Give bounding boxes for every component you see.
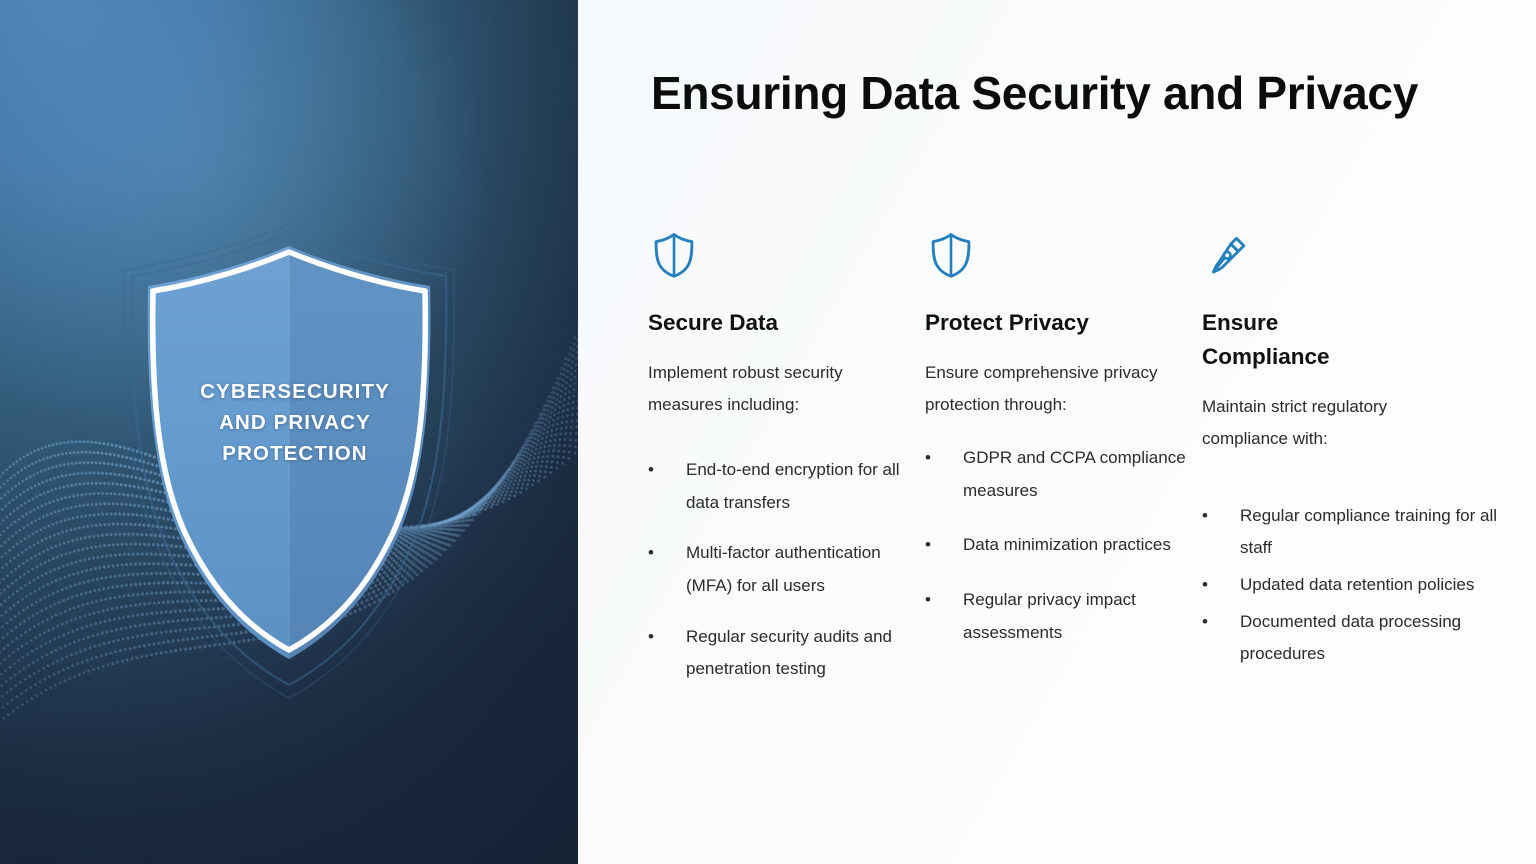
column-intro: Ensure comprehensive privacy protection …	[925, 357, 1183, 422]
pen-nib-icon	[1202, 228, 1502, 284]
bullet-text: Data minimization practices	[963, 529, 1202, 562]
content-panel: Ensuring Data Security and Privacy Secur…	[578, 0, 1536, 864]
feature-columns: Secure Data Implement robust security me…	[648, 228, 1518, 686]
slide-root: CYBERSECURITY AND PRIVACY PROTECTION Ens…	[0, 0, 1536, 864]
column-heading: Secure Data	[648, 306, 863, 340]
bullet-marker: •	[925, 442, 963, 507]
list-item: • Multi-factor authentication (MFA) for …	[648, 537, 925, 602]
shield-icon	[648, 228, 925, 284]
bullet-text: Regular privacy impact assessments	[963, 584, 1202, 649]
list-item: • Updated data retention policies	[1202, 569, 1502, 602]
bullet-text: End-to-end encryption for all data trans…	[686, 454, 925, 519]
list-item: • Documented data processing procedures	[1202, 606, 1502, 671]
list-item: • Regular privacy impact assessments	[925, 584, 1202, 649]
bullet-marker: •	[925, 584, 963, 649]
bullet-marker: •	[648, 537, 686, 602]
list-item: • Regular security audits and penetratio…	[648, 621, 925, 686]
bullet-marker: •	[648, 621, 686, 686]
feature-column-protect-privacy: Protect Privacy Ensure comprehensive pri…	[925, 228, 1202, 649]
column-bullet-list: • GDPR and CCPA compliance measures • Da…	[925, 442, 1202, 649]
list-item: • GDPR and CCPA compliance measures	[925, 442, 1202, 507]
bullet-marker: •	[1202, 606, 1240, 671]
feature-column-secure-data: Secure Data Implement robust security me…	[648, 228, 925, 686]
column-intro: Maintain strict regulatory compliance wi…	[1202, 391, 1450, 456]
column-intro: Implement robust security measures inclu…	[648, 357, 906, 422]
column-heading: Ensure Compliance	[1202, 306, 1352, 374]
list-item: • Data minimization practices	[925, 529, 1202, 562]
page-title: Ensuring Data Security and Privacy	[651, 63, 1451, 124]
feature-column-ensure-compliance: Ensure Compliance Maintain strict regula…	[1202, 228, 1502, 671]
column-bullet-list: • Regular compliance training for all st…	[1202, 500, 1502, 671]
bullet-text: Updated data retention policies	[1240, 569, 1502, 602]
list-item: • End-to-end encryption for all data tra…	[648, 454, 925, 519]
bullet-marker: •	[648, 454, 686, 519]
bullet-marker: •	[925, 529, 963, 562]
bullet-marker: •	[1202, 500, 1240, 565]
list-item: • Regular compliance training for all st…	[1202, 500, 1502, 565]
bullet-marker: •	[1202, 569, 1240, 602]
hero-visual-panel: CYBERSECURITY AND PRIVACY PROTECTION	[0, 0, 578, 864]
bullet-text: GDPR and CCPA compliance measures	[963, 442, 1202, 507]
bullet-text: Regular compliance training for all staf…	[1240, 500, 1502, 565]
column-heading: Protect Privacy	[925, 306, 1140, 340]
bullet-text: Multi-factor authentication (MFA) for al…	[686, 537, 925, 602]
bullet-text: Regular security audits and penetration …	[686, 621, 925, 686]
shield-badge-graphic	[0, 0, 578, 864]
shield-icon	[925, 228, 1202, 284]
column-bullet-list: • End-to-end encryption for all data tra…	[648, 454, 925, 686]
bullet-text: Documented data processing procedures	[1240, 606, 1502, 671]
